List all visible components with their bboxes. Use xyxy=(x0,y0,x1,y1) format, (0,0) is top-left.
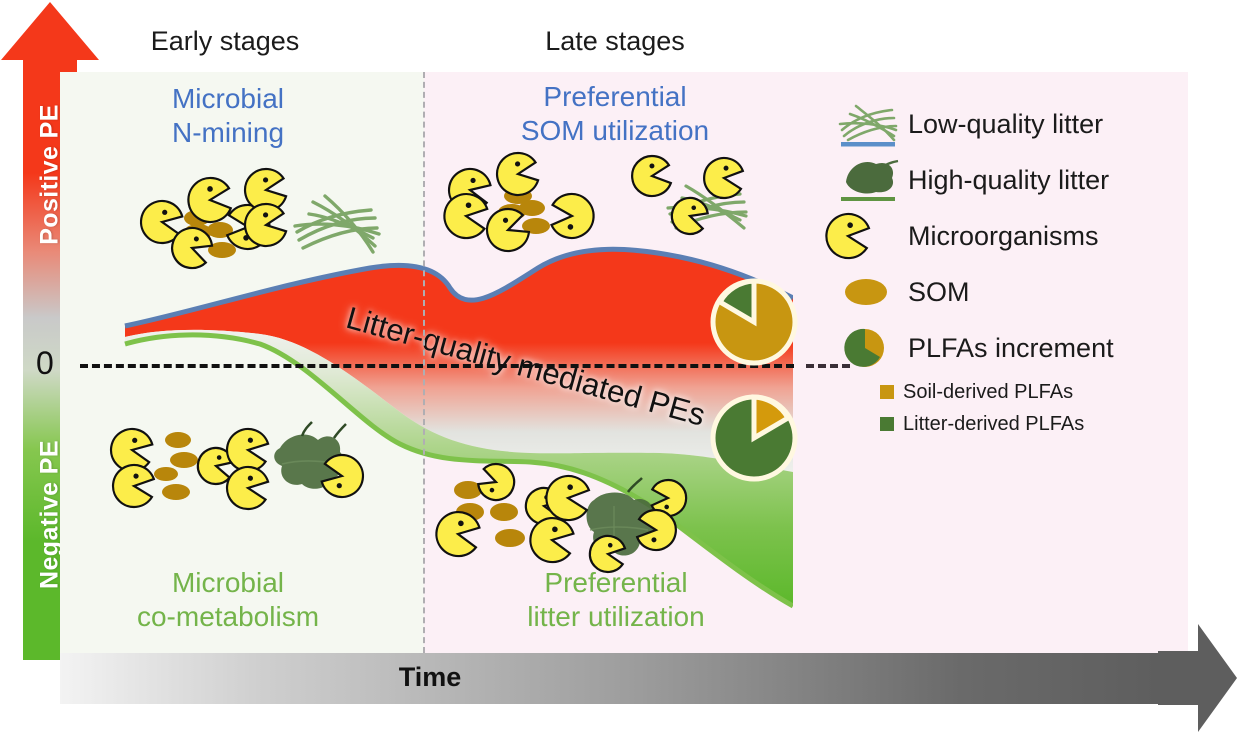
late-top-organism-cluster xyxy=(440,168,750,278)
zero-baseline xyxy=(80,364,794,368)
plfa-pie-low-quality xyxy=(708,276,800,368)
figure-canvas: Positive PE Negative PE Early stages Lat… xyxy=(0,0,1237,732)
som-particle-group xyxy=(154,432,198,500)
legend: Low-quality litter High-quality litter xyxy=(838,96,1188,440)
plfa-pie-high-quality xyxy=(708,392,800,484)
legend-subitem-soil-derived[interactable]: Soil-derived PLFAs xyxy=(838,376,1188,408)
legend-label: Microorganisms xyxy=(900,221,1099,252)
legend-label: SOM xyxy=(900,277,970,308)
microorganism-icon xyxy=(838,212,900,260)
legend-item-microorganisms[interactable]: Microorganisms xyxy=(838,208,1188,264)
late-bottom-organism-cluster xyxy=(440,468,710,588)
early-stages-header: Early stages xyxy=(110,26,340,57)
low-quality-litter-icon xyxy=(838,100,900,148)
legend-subitem-litter-derived[interactable]: Litter-derived PLFAs xyxy=(838,408,1188,440)
time-axis-arrowhead xyxy=(1158,624,1237,732)
time-axis-label: Time xyxy=(60,662,800,693)
early-top-organism-cluster xyxy=(140,170,390,280)
legend-item-plfas-increment[interactable]: PLFAs increment xyxy=(838,320,1188,376)
plfa-pie-icon xyxy=(838,324,900,372)
late-stages-header: Late stages xyxy=(500,26,730,57)
pacman-icon xyxy=(551,193,595,239)
legend-label: PLFAs increment xyxy=(900,333,1114,364)
pacman-icon xyxy=(224,464,269,511)
litter-derived-swatch xyxy=(880,417,894,431)
legend-sublabel: Litter-derived PLFAs xyxy=(894,413,1084,436)
legend-label: High-quality litter xyxy=(900,165,1109,196)
som-icon xyxy=(838,268,900,316)
legend-item-som[interactable]: SOM xyxy=(838,264,1188,320)
early-bottom-organism-cluster xyxy=(120,418,380,528)
low-quality-litter-icon xyxy=(295,196,379,252)
stage-divider xyxy=(423,72,425,653)
soil-derived-swatch xyxy=(880,385,894,399)
legend-label: Low-quality litter xyxy=(900,109,1103,140)
high-quality-litter-icon xyxy=(838,156,900,204)
legend-sublabel: Soil-derived PLFAs xyxy=(894,381,1073,404)
legend-item-high-quality-litter[interactable]: High-quality litter xyxy=(838,152,1188,208)
zero-axis-label: 0 xyxy=(36,345,54,382)
legend-item-low-quality-litter[interactable]: Low-quality litter xyxy=(838,96,1188,152)
